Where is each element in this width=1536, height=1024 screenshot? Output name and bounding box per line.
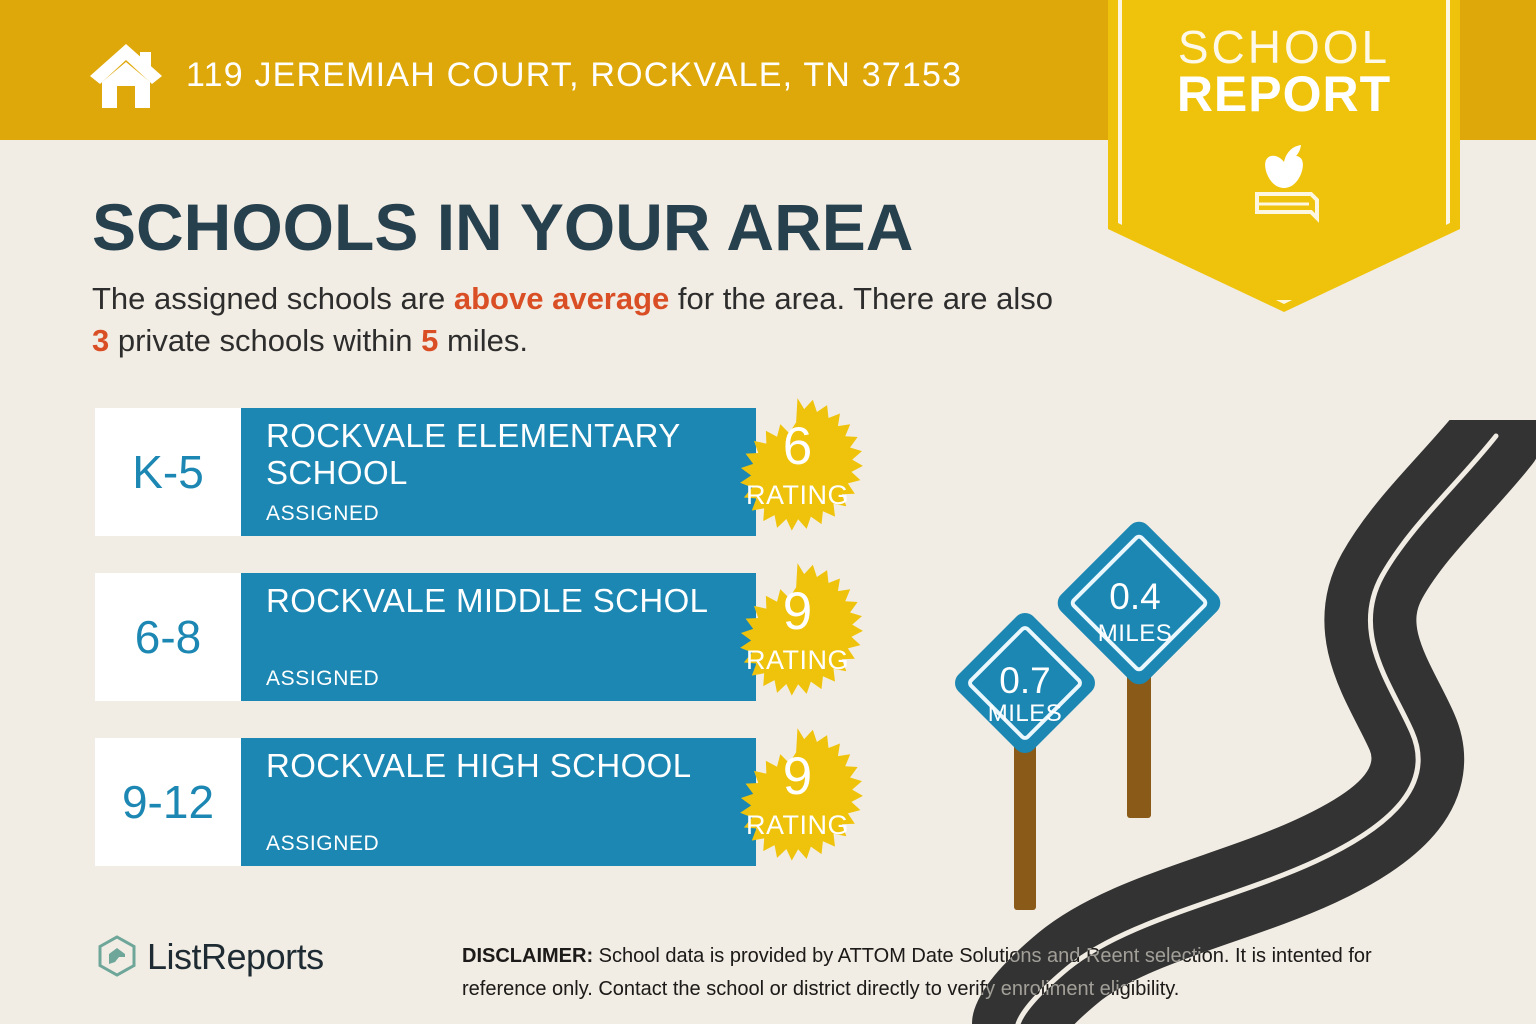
logo-wordmark: ListReports [147,936,324,978]
rating-caption: RATING [720,645,875,676]
distance-sign[interactable]: 0.4 MILES [1055,520,1215,820]
rating-badge: 9 RATING [720,560,875,715]
school-info-bar: ROCKVALE MIDDLE SCHOL ASSIGNED [241,573,756,701]
school-info-bar: ROCKVALE HIGH SCHOOL ASSIGNED [241,738,756,866]
grade-range-label: K-5 [132,445,204,499]
sign-distance-value: 0.4 [1055,578,1215,615]
subtitle-part-3: private schools within [109,323,421,358]
subtitle-part-2: for the area. There are also [669,281,1053,316]
page-subtitle: The assigned schools are above average f… [92,278,1062,362]
grade-range-label: 6-8 [135,610,201,664]
school-name: ROCKVALE MIDDLE SCHOL [266,583,736,620]
school-info-bar: ROCKVALE ELEMENTARY SCHOOL ASSIGNED [241,408,756,536]
grade-range-box: K-5 [95,408,241,536]
school-status-label: ASSIGNED [266,832,379,856]
rating-caption: RATING [720,810,875,841]
page-title: SCHOOLS IN YOUR AREA [92,194,913,260]
subtitle-part-1: The assigned schools are [92,281,454,316]
school-report-badge: SCHOOL REPORT [1108,0,1460,312]
hexagon-house-icon [95,934,139,978]
rating-badge: 6 RATING [720,395,875,550]
school-status-label: ASSIGNED [266,502,379,526]
apple-on-book-icon [1237,140,1331,226]
rating-value: 6 [720,420,875,473]
school-status-label: ASSIGNED [266,667,379,691]
disclaimer-body: School data is provided by ATTOM Date So… [462,945,1372,1000]
disclaimer-label: DISCLAIMER: [462,945,593,967]
listreports-logo[interactable]: ListReports [95,932,355,982]
badge-title-line2: REPORT [1108,65,1460,123]
rating-badge: 9 RATING [720,725,875,880]
property-address: 119 JEREMIAH COURT, ROCKVALE, TN 37153 [186,56,962,95]
sign-distance-unit: MILES [1055,622,1215,646]
subtitle-highlight-count: 3 [92,323,109,358]
subtitle-highlight-miles: 5 [421,323,438,358]
rating-value: 9 [720,585,875,638]
grade-range-label: 9-12 [122,775,214,829]
grade-range-box: 9-12 [95,738,241,866]
road-illustration: 0.7 MILES 0.4 MILES [930,420,1536,1024]
subtitle-part-4: miles. [438,323,528,358]
school-name: ROCKVALE ELEMENTARY SCHOOL [266,418,736,492]
disclaimer-text: DISCLAIMER: School data is provided by A… [462,940,1442,1006]
grade-range-box: 6-8 [95,573,241,701]
rating-caption: RATING [720,480,875,511]
subtitle-highlight-average: above average [454,281,669,316]
home-icon [88,42,164,110]
rating-value: 9 [720,750,875,803]
school-name: ROCKVALE HIGH SCHOOL [266,748,736,785]
